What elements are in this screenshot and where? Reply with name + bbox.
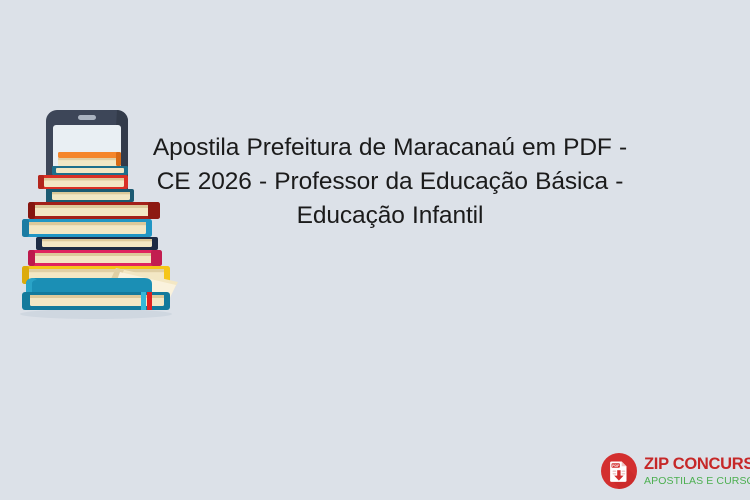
promo-banner: Apostila Prefeitura de Maracanaú em PDF …: [0, 0, 750, 500]
book-teal-bottom: [22, 278, 170, 310]
brand-logo[interactable]: PDF ZIP CONCURSOS APOSTILAS E CURSOS: [600, 449, 746, 493]
logo-wordmark: ZIP CONCURSOS APOSTILAS E CURSOS: [644, 456, 750, 486]
book-navy-4: [46, 189, 134, 202]
logo-primary-text: ZIP CONCURSOS: [644, 456, 750, 473]
book-teal-2: [52, 166, 128, 175]
bookmark-ribbon: [147, 292, 152, 310]
svg-text:PDF: PDF: [612, 464, 620, 468]
title-block: Apostila Prefeitura de Maracanaú em PDF …: [148, 131, 632, 233]
book-darkred-5: [28, 202, 160, 219]
book-darknavy-7: [36, 237, 158, 250]
pdf-download-icon: PDF: [600, 452, 638, 490]
page-title: Apostila Prefeitura de Maracanaú em PDF …: [148, 131, 632, 233]
book-blue-6: [22, 219, 152, 237]
book-red-3: [38, 175, 128, 189]
book-crimson-8: [28, 250, 162, 266]
illustration-shadow: [20, 309, 172, 319]
book-orange-top: [58, 152, 121, 166]
logo-secondary-text: APOSTILAS E CURSOS: [644, 476, 750, 487]
